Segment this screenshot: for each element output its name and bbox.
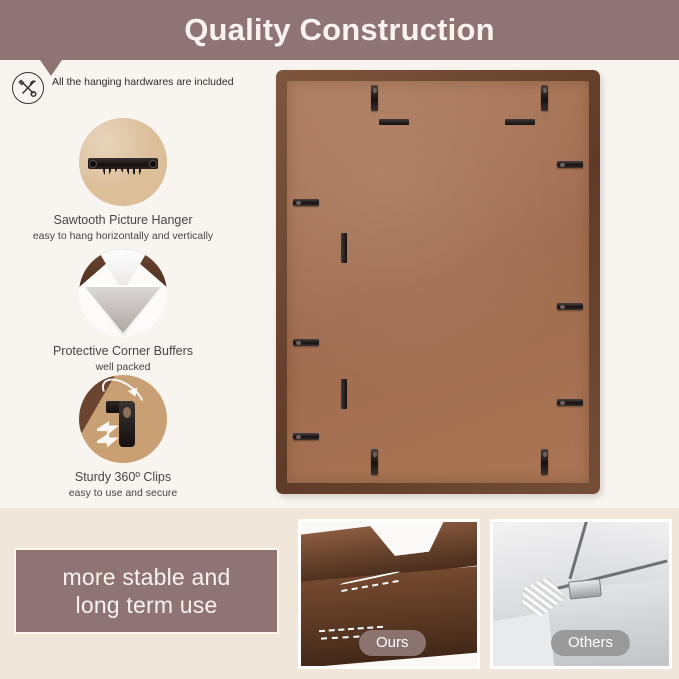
- feature-title: Protective Corner Buffers: [0, 344, 246, 359]
- hanging-hardware-note-text: All the hanging hardwares are included: [52, 72, 234, 90]
- frame-clip: [293, 339, 319, 346]
- stable-use-banner-text: more stable andlong term use: [63, 563, 231, 619]
- frame-hanger: [341, 379, 347, 409]
- feature-title: Sturdy 360º Clips: [0, 470, 246, 485]
- sturdy-360-clip-photo: [79, 375, 167, 463]
- frame-clip: [293, 199, 319, 206]
- frame-clip: [371, 85, 378, 111]
- infographic-page: Quality Construction All the hanging har…: [0, 0, 679, 679]
- feature-subtitle: easy to hang horizontally and vertically: [0, 229, 246, 243]
- metal-clip: [568, 578, 602, 599]
- frame-clip: [557, 399, 583, 406]
- feature-sturdy-clips: Sturdy 360º Clips easy to use and secure: [0, 375, 246, 500]
- frame-clip: [293, 433, 319, 440]
- feature-corner-buffers: Protective Corner Buffers well packed: [0, 249, 246, 374]
- hanging-hardware-note: All the hanging hardwares are included: [12, 72, 262, 104]
- frame-backing-board: [287, 81, 589, 483]
- feature-subtitle: easy to use and secure: [0, 486, 246, 500]
- frame-hanger: [505, 119, 535, 125]
- comparison-card-others: Others: [490, 519, 672, 669]
- page-title: Quality Construction: [0, 0, 679, 60]
- frame-clip: [541, 449, 548, 475]
- frame-hanger: [379, 119, 409, 125]
- stable-use-banner: more stable andlong term use: [14, 548, 279, 634]
- sawtooth-picture-hanger-photo: [79, 118, 167, 206]
- frame-clip: [541, 85, 548, 111]
- badge-ours: Ours: [359, 630, 426, 656]
- feature-subtitle: well packed: [0, 360, 246, 374]
- picture-frame-back-photo: [276, 70, 600, 494]
- frame-hanger: [341, 233, 347, 263]
- protective-corner-buffer-photo: [79, 249, 167, 337]
- badge-others: Others: [551, 630, 630, 656]
- frame-clip: [557, 161, 583, 168]
- feature-title: Sawtooth Picture Hanger: [0, 213, 246, 228]
- tools-crossed-icon: [12, 72, 44, 104]
- frame-clip: [557, 303, 583, 310]
- comparison-card-ours: Ours: [298, 519, 480, 669]
- frame-clip: [371, 449, 378, 475]
- feature-sawtooth-hanger: Sawtooth Picture Hanger easy to hang hor…: [0, 118, 246, 243]
